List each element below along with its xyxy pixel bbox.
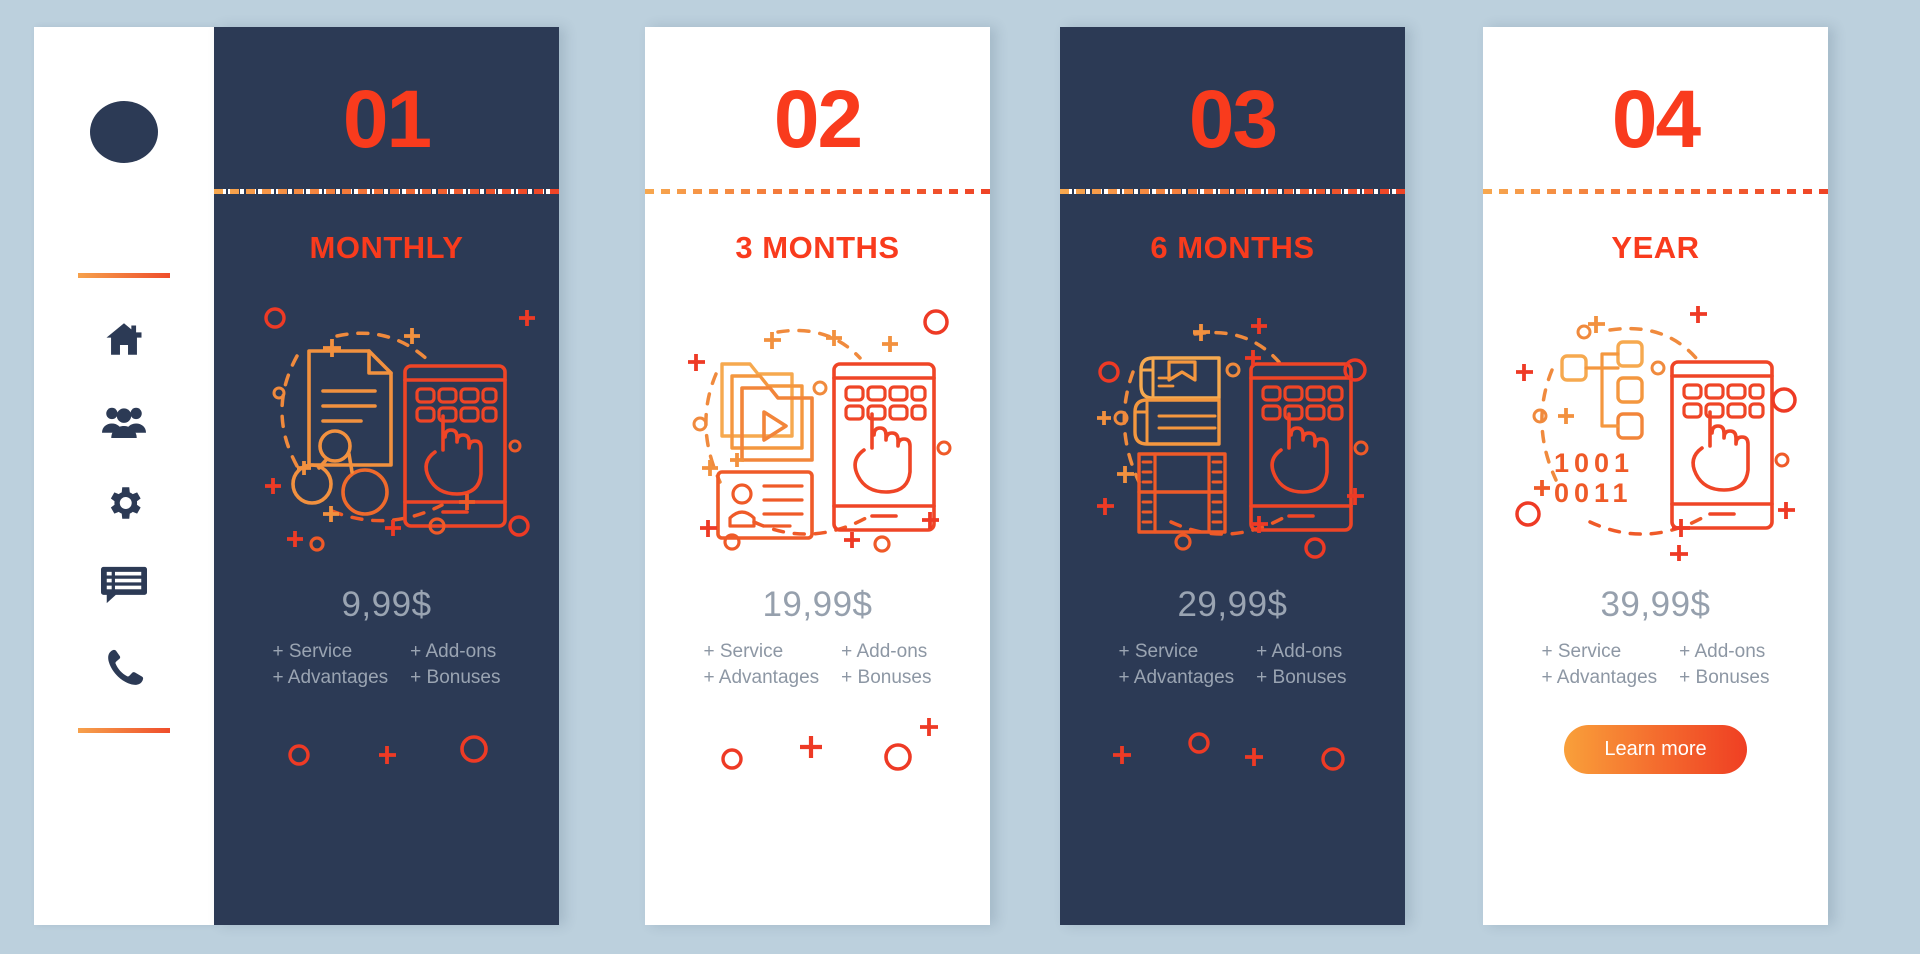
card-title: 6 MONTHS [1150,230,1314,266]
card-footer-decor [668,713,968,803]
step-number: 03 [1189,79,1276,161]
card-divider [1060,189,1405,194]
home-icon [103,318,145,365]
step-number: 04 [1612,79,1699,161]
pricing-card-3-months[interactable]: 02 3 MONTHS [645,27,990,925]
sidebar-item-call[interactable] [101,646,147,692]
logo-dot[interactable] [90,101,158,163]
feature-item: + Service [1541,641,1657,663]
feature-item: + Advantages [703,667,819,689]
card-features: + Service + Add-ons + Advantages + Bonus… [1118,641,1346,689]
sidebar-item-settings[interactable] [101,482,147,528]
illustration-media-folder-card-smartphone [668,296,968,561]
feature-item: + Bonuses [841,667,931,689]
sidebar-item-home[interactable] [101,318,147,364]
card-divider [645,189,990,194]
sidebar [34,27,214,925]
feature-item: + Add-ons [410,641,500,663]
card-price: 9,99$ [341,585,431,625]
feature-item: + Service [1118,641,1234,663]
card-divider [1483,189,1828,194]
feature-item: + Advantages [1118,667,1234,689]
users-icon [102,400,146,447]
card-title: 3 MONTHS [735,230,899,266]
card-features: + Service + Add-ons + Advantages + Bonus… [272,641,500,689]
feature-item: + Add-ons [1679,641,1769,663]
feature-item: + Service [272,641,388,663]
step-number: 01 [343,79,430,161]
sidebar-item-messages[interactable] [101,564,147,610]
onboarding-screens-root: 01 MONTHLY [0,0,1920,954]
card-title: MONTHLY [310,230,464,266]
svg-text:0011: 0011 [1554,478,1633,508]
feature-item: + Advantages [1541,667,1657,689]
sidebar-nav [101,318,147,692]
illustration-document-share-smartphone [237,296,537,561]
feature-item: + Advantages [272,667,388,689]
card-title: YEAR [1611,230,1699,266]
phone-icon [103,646,145,693]
feature-item: + Add-ons [1256,641,1346,663]
feature-item: + Bonuses [1679,667,1769,689]
chat-list-icon [101,565,147,610]
sidebar-divider-top [78,273,170,278]
gear-icon [103,482,145,529]
pricing-card-year[interactable]: 04 YEAR 1001 0011 [1483,27,1828,925]
feature-item: + Add-ons [841,641,931,663]
card-footer-decor [237,713,537,803]
sidebar-divider-bottom [78,728,170,733]
card-price: 29,99$ [1177,585,1287,625]
card-features: + Service + Add-ons + Advantages + Bonus… [1541,641,1769,689]
learn-more-button[interactable]: Learn more [1564,725,1746,774]
step-number: 02 [774,79,861,161]
pricing-card-monthly[interactable]: 01 MONTHLY [214,27,559,925]
pricing-card-6-months[interactable]: 03 6 MONTHS [1060,27,1405,925]
card-price: 19,99$ [762,585,872,625]
card-footer-decor [1083,713,1383,803]
illustration-books-film-smartphone [1083,296,1383,561]
card-features: + Service + Add-ons + Advantages + Bonus… [703,641,931,689]
feature-item: + Bonuses [410,667,500,689]
feature-item: + Service [703,641,819,663]
feature-item: + Bonuses [1256,667,1346,689]
svg-text:1001: 1001 [1554,448,1634,478]
card-price: 39,99$ [1600,585,1710,625]
sidebar-item-users[interactable] [101,400,147,446]
card-divider [214,189,559,194]
illustration-binary-network-smartphone: 1001 0011 [1506,296,1806,561]
